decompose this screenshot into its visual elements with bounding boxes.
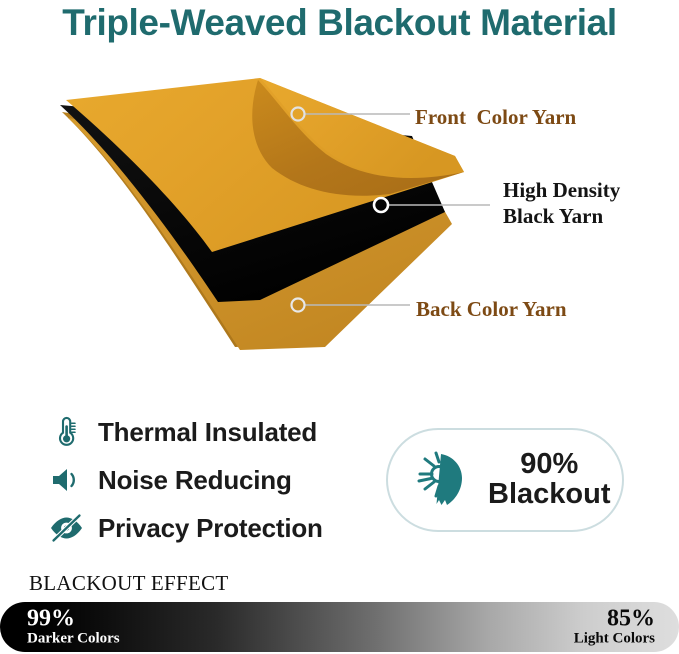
callout-label-back-color-yarn: Back Color Yarn (416, 296, 567, 322)
blackout-bar-right-caption: Light Colors (574, 632, 655, 648)
blackout-bar-right-stat: 85% Light Colors (574, 607, 655, 648)
sun-blocked-icon (404, 443, 478, 517)
blackout-word: Blackout (488, 480, 610, 510)
blackout-badge-text: 90% Blackout (488, 450, 610, 509)
page-title: Triple-Weaved Blackout Material (0, 2, 679, 44)
blackout-effect-heading: BLACKOUT EFFECT (29, 571, 229, 596)
blackout-percent: 90% (488, 450, 610, 480)
eye-slash-icon (46, 508, 86, 548)
feature-label-noise-reducing: Noise Reducing (98, 465, 292, 496)
blackout-effect-gradient-bar: 99% Darker Colors 85% Light Colors (0, 602, 679, 652)
blackout-bar-right-percent: 85% (574, 607, 655, 632)
blackout-bar-left-caption: Darker Colors (27, 632, 120, 648)
callout-label-front-color-yarn: Front Color Yarn (415, 104, 576, 130)
feature-label-privacy-protection: Privacy Protection (98, 513, 323, 544)
feature-label-thermal-insulated: Thermal Insulated (98, 417, 317, 448)
blackout-bar-left-percent: 99% (27, 607, 120, 632)
feature-item-privacy-protection: Privacy Protection (46, 506, 376, 550)
thermometer-icon (46, 412, 86, 452)
speaker-icon (46, 460, 86, 500)
callout-label-high-density-black-yarn: High Density Black Yarn (503, 177, 620, 229)
feature-item-thermal-insulated: Thermal Insulated (46, 410, 376, 454)
feature-item-noise-reducing: Noise Reducing (46, 458, 376, 502)
blackout-badge: 90% Blackout (386, 428, 624, 532)
blackout-bar-left-stat: 99% Darker Colors (27, 607, 120, 648)
feature-list: Thermal Insulated Noise Reducing Privacy… (46, 410, 376, 554)
